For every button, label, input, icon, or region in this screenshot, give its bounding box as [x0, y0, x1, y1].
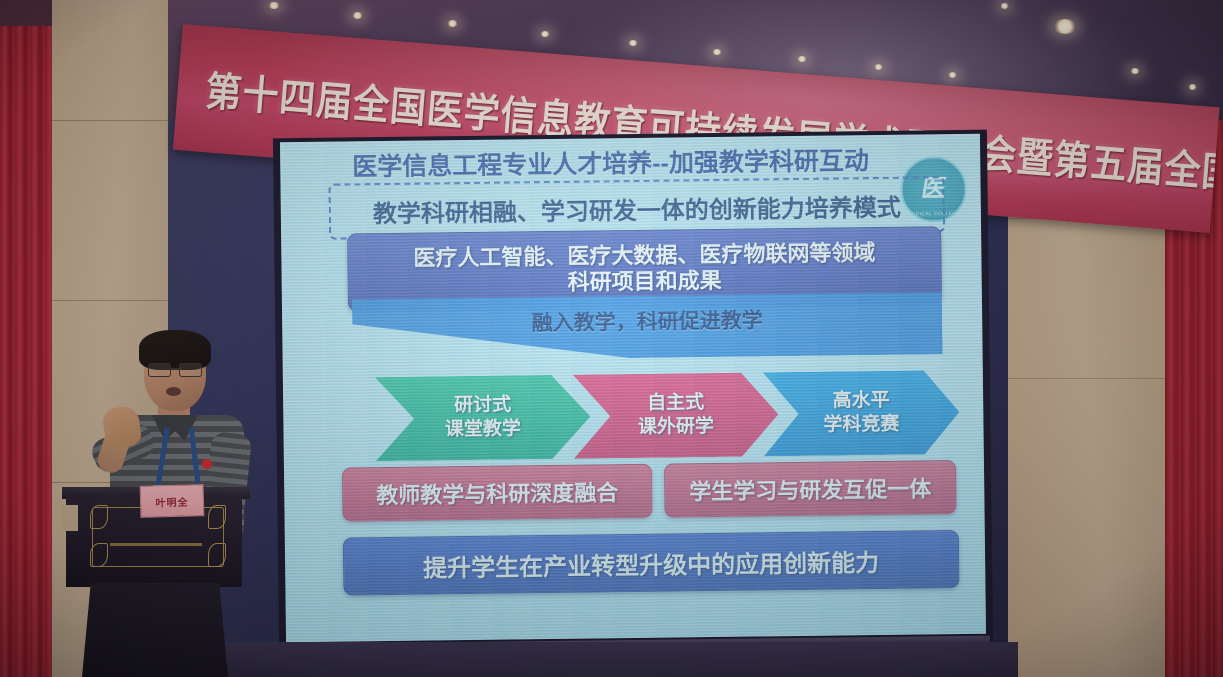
left-curtain: [0, 0, 52, 677]
podium-ornament-top-right: [208, 505, 226, 529]
ceiling-downlight-13: [1000, 3, 1009, 9]
speaker-podium: 叶明全: [62, 487, 250, 677]
speaker-name-text: 叶明全: [155, 493, 188, 509]
ceiling-downlight-12: [1188, 84, 1197, 90]
podium-ornament-top-left: [90, 505, 108, 529]
speaker-nameplate: 叶明全: [140, 484, 205, 518]
podium-ornament-bottom-right: [208, 543, 226, 567]
ceiling-downlight-1: [268, 2, 280, 9]
glasses-icon: [148, 363, 202, 375]
presenter-gesturing-hand: [101, 405, 142, 450]
ceiling-downlight-5: [628, 40, 638, 46]
podium-ornament-bottom-left: [90, 543, 108, 567]
projection-screen: 医学信息工程专业人才培养--加强教学科研互动 医 MEDICAL COLLEGE…: [280, 134, 986, 643]
podium-base: [82, 583, 228, 677]
ceiling-downlight-7: [797, 56, 807, 62]
ceiling-downlight-9: [948, 72, 957, 78]
ceiling-downlight-3: [447, 20, 458, 27]
blue-box-line-2: 科研项目和成果: [568, 268, 722, 296]
podium-side-notch: [62, 505, 78, 531]
chevron-1-line-2: 课堂教学: [445, 417, 521, 442]
ceiling-downlight-11: [1130, 68, 1140, 74]
chevron-2-line-2: 课外研学: [638, 415, 714, 440]
ceiling-downlight-2: [352, 12, 363, 19]
dashed-callout-text: 教学科研相融、学习研发一体的创新能力培养模式: [373, 187, 901, 228]
pink-box-row: 教师教学与科研深度融合 学生学习与研发互促一体: [342, 460, 955, 523]
ceiling-downlight-10: [1053, 19, 1077, 34]
chevron-3-line-2: 学科竞赛: [823, 413, 899, 438]
blue-box-line-1: 医疗人工智能、医疗大数据、医疗物联网等领域: [413, 240, 875, 272]
slide-bottom-conclusion-bar: 提升学生在产业转型升级中的应用创新能力: [343, 530, 960, 596]
ceiling-downlight-8: [874, 64, 883, 70]
stage-floor: [168, 642, 1018, 677]
podium-gold-bar: [110, 543, 202, 546]
chevron-2-line-1: 自主式: [647, 391, 704, 415]
chevron-3-line-1: 高水平: [833, 389, 890, 413]
left-curtain-header: [0, 0, 52, 26]
presenter-mouth: [166, 387, 181, 396]
chevron-item-1: 研讨式 课堂教学: [375, 375, 591, 462]
ceiling-downlight-6: [712, 49, 722, 55]
pink-box-teaching: 教师教学与科研深度融合: [342, 464, 653, 522]
chevron-item-3: 高水平 学科竞赛: [763, 370, 960, 456]
lapel-pin-icon: [202, 459, 212, 469]
pink-box-learning: 学生学习与研发互促一体: [664, 460, 957, 518]
chevron-item-2: 自主式 课外研学: [573, 372, 779, 458]
ceiling-downlight-4: [540, 31, 550, 37]
presentation-slide: 医学信息工程专业人才培养--加强教学科研互动 医 MEDICAL COLLEGE…: [280, 134, 986, 643]
conference-photo-scene: 第十四届全国医学信息教育可持续发展学术研讨会暨第五届全国医学信息学研究生论坛 医…: [0, 0, 1223, 677]
chevron-row: 研讨式 课堂教学 自主式 课外研学 高水平 学科竞赛: [375, 370, 956, 469]
chevron-1-line-1: 研讨式: [454, 394, 511, 418]
